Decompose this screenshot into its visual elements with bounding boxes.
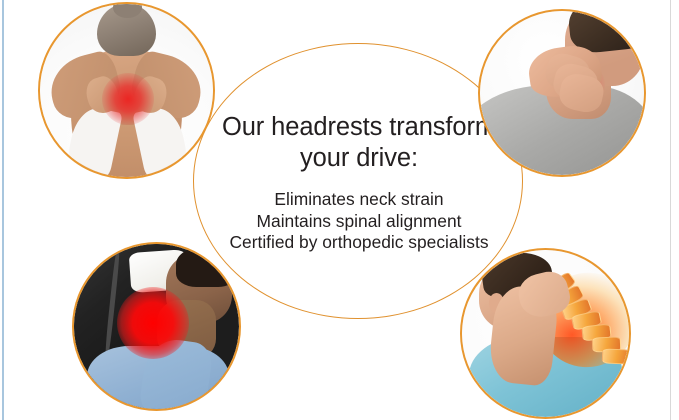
photo-circle-neck-pain-man-grey: [478, 9, 646, 177]
pain-glow-icon: [102, 73, 154, 125]
left-page-border: [2, 0, 4, 420]
photo-circle-neck-pain-woman: [38, 2, 215, 179]
photo-circle-spine-xray: [460, 248, 631, 419]
photo-circle-car-seat-headrest: [72, 242, 241, 411]
infographic-canvas: Our headrests transform your drive: Elim…: [0, 0, 679, 420]
photo-scene: [462, 250, 629, 417]
photo-scene: [480, 11, 644, 175]
photo-scene: [40, 4, 213, 177]
photo-scene: [74, 244, 239, 409]
right-page-border: [670, 0, 671, 420]
